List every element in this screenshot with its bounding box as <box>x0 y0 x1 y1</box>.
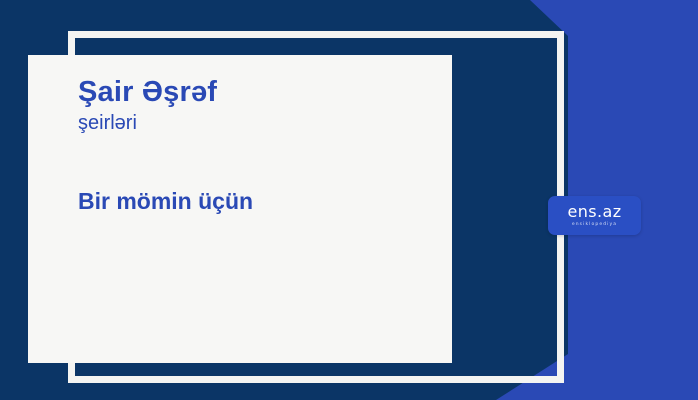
poem-title: Bir mömin üçün <box>78 188 408 216</box>
ensaz-logo-badge[interactable]: ens.az ensiklopediya <box>548 196 641 235</box>
poem-text-block: Şair Əşrəf şeirləri Bir mömin üçün <box>78 75 408 216</box>
logo-tagline: ensiklopediya <box>572 223 617 228</box>
poem-card-canvas: Şair Əşrəf şeirləri Bir mömin üçün ens.a… <box>0 0 698 400</box>
logo-wordmark: ens.az <box>567 204 621 220</box>
poet-subtitle: şeirləri <box>78 111 408 136</box>
poet-name: Şair Əşrəf <box>78 75 408 109</box>
